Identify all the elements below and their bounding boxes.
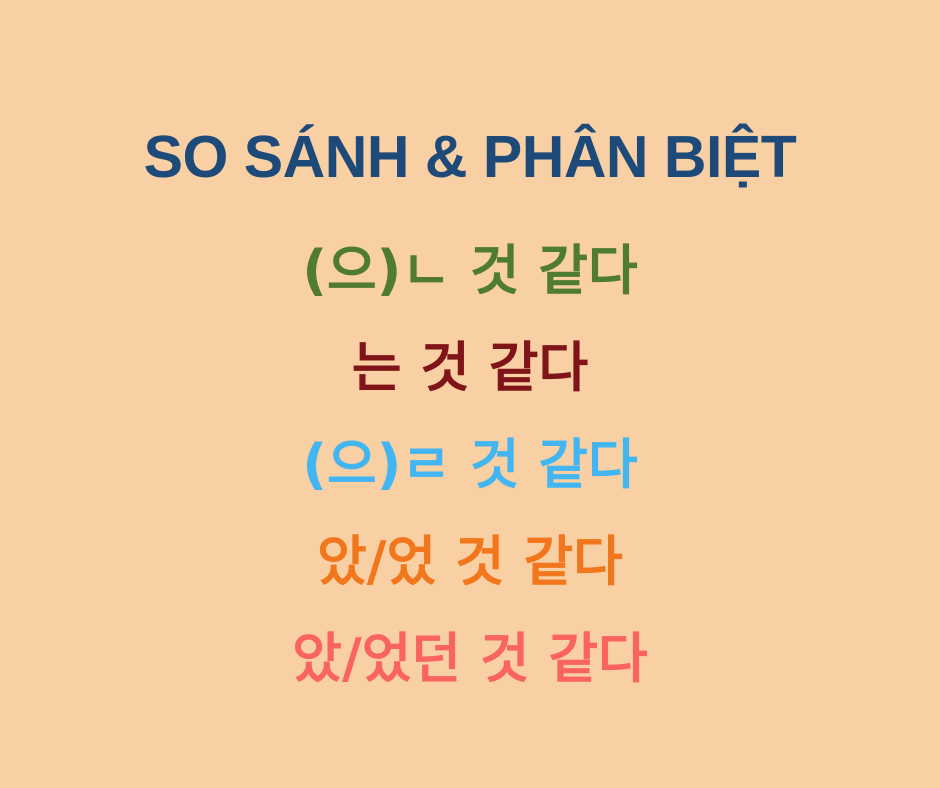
grammar-point-4: 았/었 것 같다 bbox=[0, 513, 940, 610]
grammar-point-2: 는 것 같다 bbox=[0, 319, 940, 416]
grammar-point-1: (으)ㄴ 것 같다 bbox=[0, 222, 940, 319]
slide-canvas: SO SÁNH & PHÂN BIỆT (으)ㄴ 것 같다 는 것 같다 (으)… bbox=[0, 0, 940, 788]
grammar-point-list: (으)ㄴ 것 같다 는 것 같다 (으)ㄹ 것 같다 았/었 것 같다 았/었던… bbox=[0, 222, 940, 707]
page-title: SO SÁNH & PHÂN BIỆT bbox=[0, 128, 940, 187]
grammar-point-3: (으)ㄹ 것 같다 bbox=[0, 416, 940, 513]
grammar-point-5: 았/었던 것 같다 bbox=[0, 610, 940, 707]
